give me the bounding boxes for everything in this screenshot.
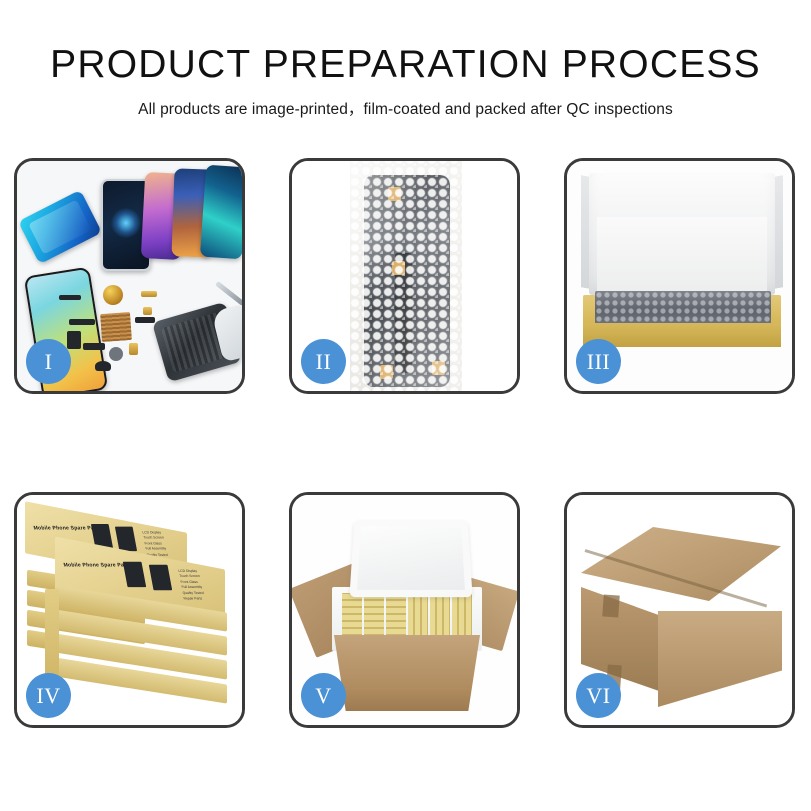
carton-tape bbox=[602, 594, 619, 617]
gold-boxes-inside bbox=[342, 593, 472, 641]
carton-right-face bbox=[658, 611, 782, 707]
process-step-4[interactable]: Mobile Phone Spare Parts LCD Display Tou… bbox=[14, 492, 245, 728]
process-step-5[interactable]: V bbox=[289, 492, 520, 728]
box-column bbox=[452, 593, 472, 641]
blue-screen-protector bbox=[18, 190, 102, 265]
teal-phone bbox=[200, 165, 242, 260]
box-column bbox=[342, 593, 362, 641]
step-badge-6: VI bbox=[576, 673, 621, 718]
box-brand-text: Mobile Phone Spare Parts bbox=[63, 563, 132, 569]
box-product-image bbox=[115, 527, 137, 551]
grey-bubble-layer bbox=[595, 291, 771, 327]
box-column bbox=[408, 593, 428, 641]
box-column bbox=[386, 593, 406, 641]
step-badge-1: I bbox=[26, 339, 71, 384]
process-step-2[interactable]: II bbox=[289, 158, 520, 394]
page-subtitle: All products are image-printed，film-coat… bbox=[0, 86, 811, 119]
small-part bbox=[59, 295, 81, 300]
box-column bbox=[430, 593, 450, 641]
small-part bbox=[135, 317, 155, 323]
box-product-image bbox=[149, 565, 172, 590]
small-part bbox=[141, 291, 157, 297]
foam-lid bbox=[349, 520, 472, 597]
carton-top-face bbox=[581, 527, 781, 601]
small-part bbox=[143, 307, 152, 315]
small-part bbox=[129, 343, 138, 355]
header: PRODUCT PREPARATION PROCESS All products… bbox=[0, 0, 811, 119]
page-title: PRODUCT PREPARATION PROCESS bbox=[0, 0, 811, 86]
product-preparation-infographic: PRODUCT PREPARATION PROCESS All products… bbox=[0, 0, 811, 811]
process-step-grid: I II bbox=[14, 158, 804, 736]
small-part bbox=[109, 347, 123, 361]
step-badge-2: II bbox=[301, 339, 346, 384]
box-product-image bbox=[123, 562, 146, 587]
box-spec-text: LCD Display Touch Screen Front Glass Ful… bbox=[178, 569, 205, 602]
step-badge-5: V bbox=[301, 673, 346, 718]
carton-body bbox=[334, 635, 480, 711]
process-step-1[interactable]: I bbox=[14, 158, 245, 394]
plastic-sheen bbox=[350, 161, 462, 391]
process-step-6[interactable]: VI bbox=[564, 492, 795, 728]
small-part bbox=[95, 361, 111, 371]
box-column bbox=[364, 593, 384, 641]
small-part bbox=[69, 319, 95, 325]
foam-sheet bbox=[597, 217, 767, 295]
step-badge-3: III bbox=[576, 339, 621, 384]
small-part bbox=[83, 343, 105, 350]
copper-mesh-part bbox=[100, 312, 132, 342]
step-badge-4: IV bbox=[26, 673, 71, 718]
process-step-3[interactable]: III bbox=[564, 158, 795, 394]
gold-coil-part bbox=[103, 285, 123, 305]
small-part bbox=[67, 331, 81, 349]
tweezer-tool bbox=[215, 281, 242, 306]
